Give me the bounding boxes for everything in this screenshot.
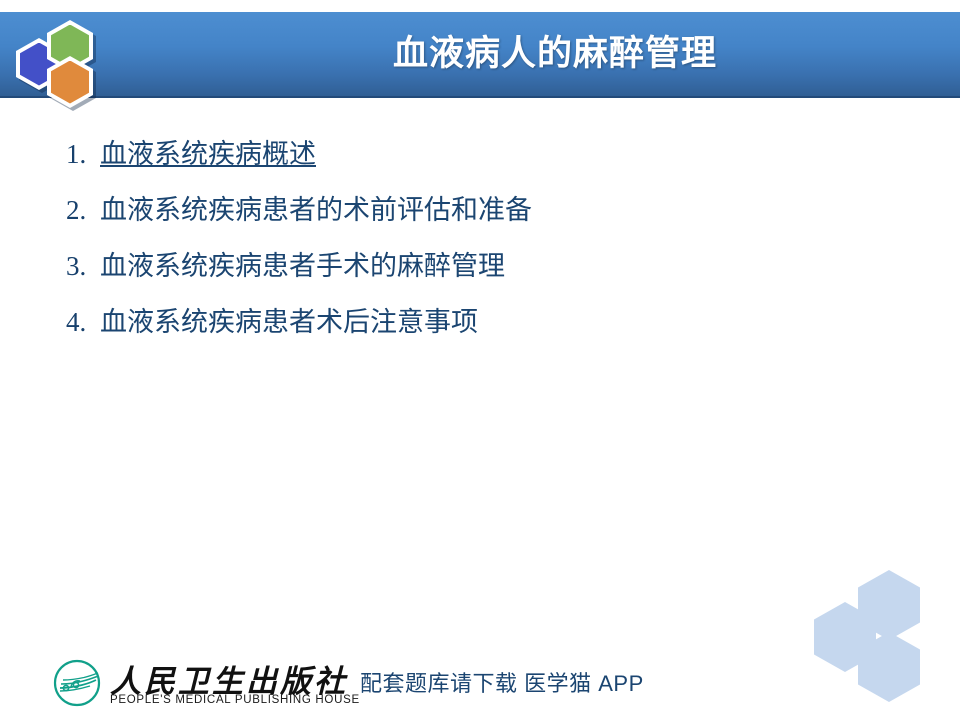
list-item-label: 血液系统疾病患者手术的麻醉管理 bbox=[100, 251, 505, 281]
list-item-label: 血液系统疾病患者术后注意事项 bbox=[100, 307, 478, 337]
list-item-label: 血液系统疾病患者的术前评估和准备 bbox=[100, 195, 532, 225]
list-item-number: 4. bbox=[66, 294, 100, 350]
slide-title: 血液病人的麻醉管理 bbox=[150, 12, 960, 98]
list-item-number: 3. bbox=[66, 238, 100, 294]
publisher-emblem-icon bbox=[52, 658, 102, 708]
footer-note: 配套题库请下载 医学猫 APP bbox=[360, 666, 644, 698]
outline-list: 1.血液系统疾病概述 2.血液系统疾病患者的术前评估和准备 3.血液系统疾病患者… bbox=[66, 126, 846, 350]
list-item-label: 血液系统疾病概述 bbox=[100, 139, 316, 169]
slide-canvas: 血液病人的麻醉管理 1.血液系统疾病概述 2.血液系统疾病患者的术前评估和准备 … bbox=[0, 0, 960, 720]
list-item[interactable]: 1.血液系统疾病概述 bbox=[66, 126, 846, 182]
decorative-hexagon-cluster bbox=[812, 570, 940, 702]
publisher-name-en: PEOPLE'S MEDICAL PUBLISHING HOUSE bbox=[110, 694, 360, 706]
publisher-logo: 人民卫生出版社 PEOPLE'S MEDICAL PUBLISHING HOUS… bbox=[52, 656, 322, 712]
hexagon-cluster-logo bbox=[14, 16, 124, 98]
list-item[interactable]: 3.血液系统疾病患者手术的麻醉管理 bbox=[66, 238, 846, 294]
list-item-number: 2. bbox=[66, 182, 100, 238]
list-item[interactable]: 4.血液系统疾病患者术后注意事项 bbox=[66, 294, 846, 350]
list-item[interactable]: 2.血液系统疾病患者的术前评估和准备 bbox=[66, 182, 846, 238]
hexagon-orange-fill bbox=[51, 61, 89, 104]
list-item-number: 1. bbox=[66, 126, 100, 182]
